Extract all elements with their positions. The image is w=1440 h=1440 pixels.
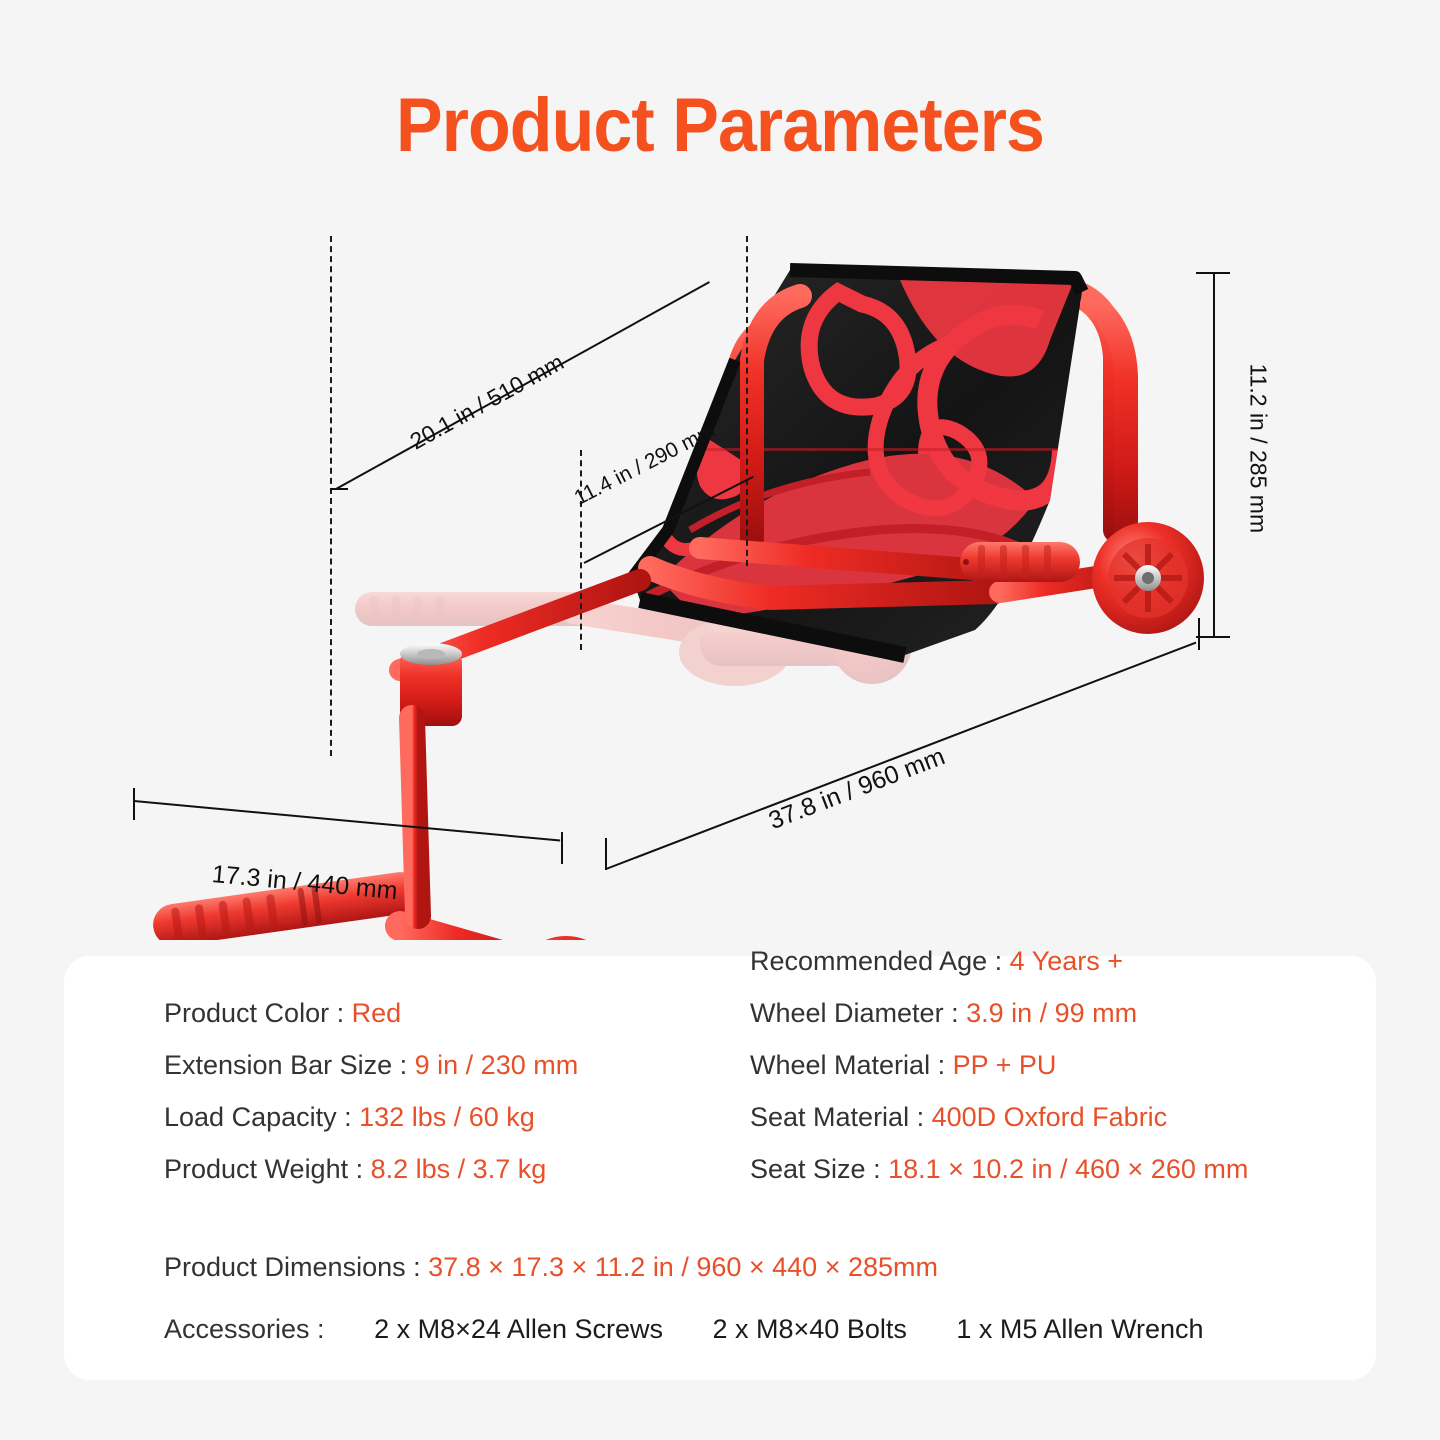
spec-value: 400D Oxford Fabric xyxy=(932,1102,1168,1132)
dim-label-height: 11.2 in / 285 mm xyxy=(1245,364,1272,534)
accessory-item: 1 x M5 Allen Wrench xyxy=(956,1314,1203,1345)
spec-label: Wheel Material : xyxy=(750,1050,945,1080)
spec-table: Product Color : Red Extension Bar Size :… xyxy=(64,956,1376,1380)
spec-value: Red xyxy=(352,998,402,1028)
spec-row-extension-bar-size: Extension Bar Size : 9 in / 230 mm xyxy=(164,1052,784,1079)
spec-label: Wheel Diameter : xyxy=(750,998,959,1028)
dim-tick-length-right xyxy=(1198,618,1200,650)
spec-row-product-color: Product Color : Red xyxy=(164,1000,784,1027)
spec-label: Load Capacity : xyxy=(164,1102,352,1132)
spec-row-load-capacity: Load Capacity : 132 lbs / 60 kg xyxy=(164,1104,784,1131)
spec-column-right: Recommended Age : 4 Years + Wheel Diamet… xyxy=(750,956,1350,1208)
accessory-item: 2 x M8×24 Allen Screws xyxy=(374,1314,663,1345)
spec-value: PP + PU xyxy=(953,1050,1057,1080)
spec-value: 132 lbs / 60 kg xyxy=(359,1102,535,1132)
dim-tick-height-bottom xyxy=(1196,636,1230,638)
spec-label: Product Weight : xyxy=(164,1154,363,1184)
spec-label: Recommended Age : xyxy=(750,946,1002,976)
ext-line-bar-top xyxy=(580,450,582,650)
spec-value: 18.1 × 10.2 in / 460 × 260 mm xyxy=(888,1154,1248,1184)
dim-tick-seat-depth-left xyxy=(330,488,348,490)
accessories-label: Accessories : xyxy=(164,1314,325,1344)
spec-column-left: Product Color : Red Extension Bar Size :… xyxy=(164,1000,784,1208)
infographic-page: Product Parameters xyxy=(0,0,1440,1440)
spec-row-recommended-age: Recommended Age : 4 Years + xyxy=(750,948,1350,975)
front-wheel xyxy=(512,936,620,940)
spec-label: Product Color : xyxy=(164,998,344,1028)
spec-value: 9 in / 230 mm xyxy=(415,1050,579,1080)
spec-row-product-dimensions: Product Dimensions : 37.8 × 17.3 × 11.2 … xyxy=(164,1252,938,1283)
spec-row-seat-size: Seat Size : 18.1 × 10.2 in / 460 × 260 m… xyxy=(750,1156,1350,1183)
spec-row-seat-material: Seat Material : 400D Oxford Fabric xyxy=(750,1104,1350,1131)
spec-row-wheel-material: Wheel Material : PP + PU xyxy=(750,1052,1350,1079)
spec-value: 3.9 in / 99 mm xyxy=(966,998,1137,1028)
dim-tick-width-left xyxy=(133,788,135,820)
rear-wheel xyxy=(1092,522,1204,634)
dim-tick-length-left xyxy=(605,838,607,870)
dim-tick-height-top xyxy=(1196,272,1230,274)
spec-card: Product Color : Red Extension Bar Size :… xyxy=(64,956,1376,1380)
spec-label: Product Dimensions : xyxy=(164,1252,421,1282)
spec-row-accessories: Accessories : 2 x M8×24 Allen Screws 2 x… xyxy=(164,1314,1204,1345)
dim-tick-width-right xyxy=(561,832,563,864)
accessory-item: 2 x M8×40 Bolts xyxy=(713,1314,907,1345)
spec-row-wheel-diameter: Wheel Diameter : 3.9 in / 99 mm xyxy=(750,1000,1350,1027)
product-diagram: 20.1 in / 510 mm 11.4 in / 290 mm 11.2 i… xyxy=(0,200,1440,940)
handlebar-assembly xyxy=(150,718,620,940)
spec-value: 37.8 × 17.3 × 11.2 in / 960 × 440 × 285m… xyxy=(428,1252,938,1282)
spec-label: Seat Size : xyxy=(750,1154,881,1184)
ext-line-left-top xyxy=(330,236,332,756)
product-illustration xyxy=(0,200,1440,940)
spec-row-product-weight: Product Weight : 8.2 lbs / 3.7 kg xyxy=(164,1156,784,1183)
page-title: Product Parameters xyxy=(58,88,1383,164)
spec-value: 8.2 lbs / 3.7 kg xyxy=(371,1154,547,1184)
spec-label: Seat Material : xyxy=(750,1102,924,1132)
spec-value: 4 Years + xyxy=(1010,946,1123,976)
dim-line-height xyxy=(1213,272,1215,638)
spec-label: Extension Bar Size : xyxy=(164,1050,407,1080)
footrest-peg xyxy=(960,542,1080,582)
ext-line-seat-top xyxy=(746,236,748,566)
